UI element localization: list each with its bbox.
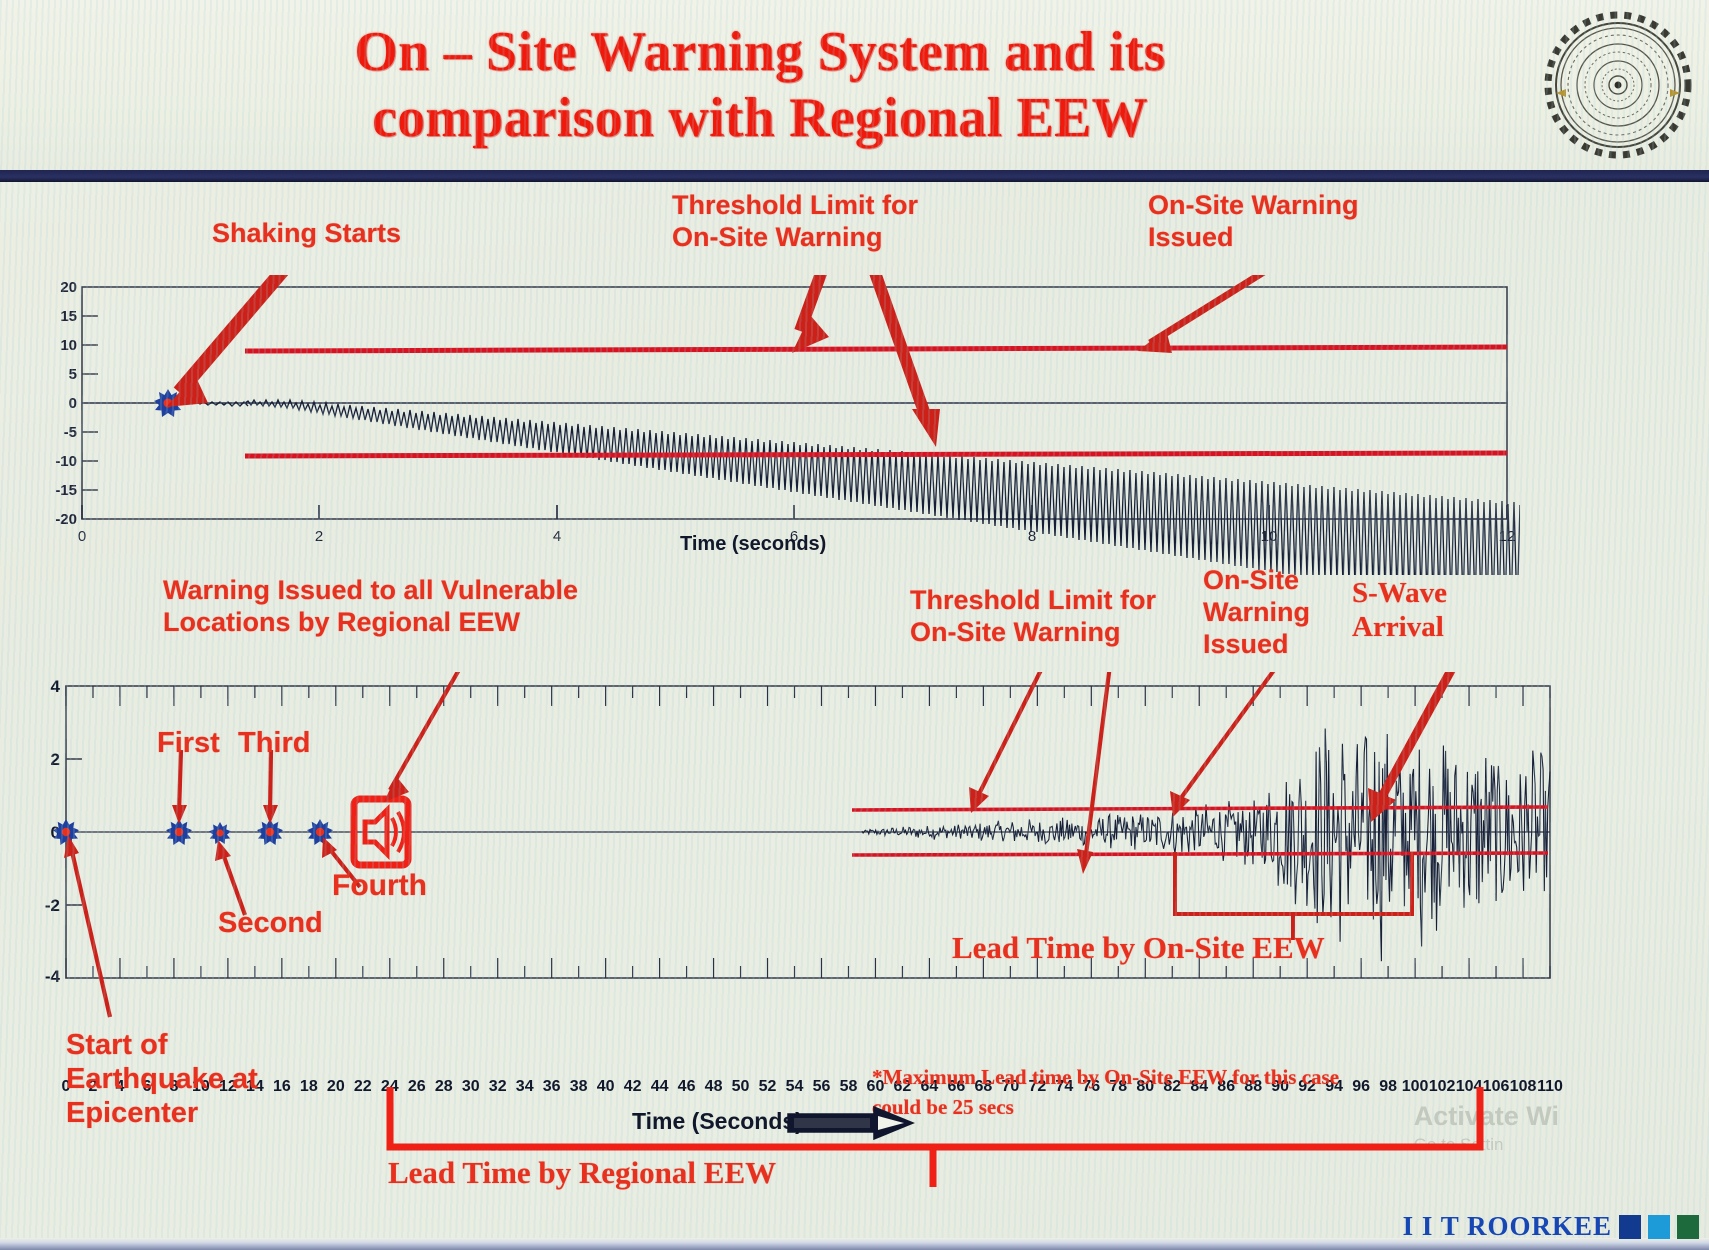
- bracket-lead-time-regional: [360, 1085, 1520, 1225]
- svg-text:20: 20: [60, 279, 77, 296]
- x-tick-label: 20: [327, 1078, 345, 1096]
- arrow-third: [263, 750, 278, 824]
- svg-text:-4: -4: [45, 967, 61, 986]
- annotation-regional-warning: Warning Issued to all Vulnerable Locatio…: [163, 575, 578, 639]
- top-threshold-lower: [245, 453, 1507, 456]
- iit-roorkee-crest-icon: [1543, 4, 1693, 166]
- iit-roorkee-brand-text: I I T ROORKEE: [1403, 1211, 1612, 1242]
- annotation-onsite-warning-issued-bottom: On-Site Warning Issued: [1203, 565, 1310, 661]
- svg-text:2: 2: [51, 750, 60, 769]
- svg-text:4: 4: [553, 528, 561, 545]
- x-tick-label: 110: [1537, 1078, 1563, 1096]
- page-title-line1: On – Site Warning System and its: [354, 20, 1165, 86]
- annotation-s-wave-arrival: S-Wave Arrival: [1352, 576, 1447, 644]
- annotation-threshold-limit-top: Threshold Limit for On-Site Warning: [672, 190, 918, 254]
- arrow-threshold-limit-bottom: [969, 672, 1075, 813]
- top-chart: 20 15 10 5 0 -5 -10 -15 -20: [40, 275, 1520, 575]
- annotation-third: Third: [238, 726, 311, 760]
- page-title: On – Site Warning System and its compari…: [120, 6, 1400, 166]
- annotation-shaking-starts: Shaking Starts: [212, 218, 401, 250]
- svg-text:-15: -15: [55, 482, 77, 499]
- arrow-start-of-earthquake: [64, 835, 110, 1017]
- arrow-threshold-limit-top-2: [860, 275, 940, 447]
- svg-text:-5: -5: [64, 424, 77, 441]
- top-threshold-upper: [245, 347, 1507, 351]
- brand-square-green: [1677, 1215, 1699, 1239]
- arrow-regional-warning: [384, 672, 495, 802]
- header-divider: [0, 170, 1709, 182]
- top-chart-trace: [245, 400, 1520, 575]
- bottom-threshold-upper: [852, 807, 1548, 810]
- svg-text:0: 0: [69, 395, 77, 412]
- svg-text:4: 4: [51, 677, 61, 696]
- svg-text:8: 8: [1028, 528, 1036, 545]
- brand-square-navy: [1619, 1215, 1641, 1239]
- arrow-shaking-starts: [166, 275, 308, 407]
- annotation-second: Second: [218, 906, 323, 940]
- annotation-threshold-limit-bottom: Threshold Limit for On-Site Warning: [910, 585, 1156, 649]
- page-title-line2: comparison with Regional EEW: [372, 86, 1148, 152]
- slide: On – Site Warning System and its compari…: [0, 0, 1709, 1250]
- annotation-onsite-warning-issued-top: On-Site Warning Issued: [1148, 190, 1359, 254]
- iit-roorkee-brand: I I T ROORKEE: [1403, 1211, 1699, 1242]
- annotation-lead-time-onsite: Lead Time by On-Site EEW: [952, 930, 1325, 967]
- svg-text:0: 0: [78, 528, 86, 545]
- svg-text:-20: -20: [55, 511, 77, 528]
- svg-text:-10: -10: [55, 453, 77, 470]
- arrow-onsite-warning-bottom: [1170, 672, 1280, 817]
- bottom-threshold-lower: [852, 853, 1548, 855]
- svg-text:10: 10: [60, 337, 77, 354]
- x-tick-label: 16: [273, 1078, 291, 1096]
- x-tick-label: 18: [300, 1078, 318, 1096]
- svg-text:15: 15: [60, 308, 77, 325]
- svg-text:2: 2: [315, 528, 323, 545]
- svg-text:-2: -2: [45, 896, 60, 915]
- arrow-first: [172, 750, 187, 824]
- arrow-second: [215, 840, 245, 915]
- annotation-first: First: [157, 726, 220, 760]
- brand-square-cyan: [1648, 1215, 1670, 1239]
- slide-header: On – Site Warning System and its compari…: [0, 0, 1709, 172]
- top-chart-xlabel: Time (seconds): [680, 533, 826, 556]
- annotation-start-of-earthquake: Start of Earthquake at Epicenter: [66, 1028, 258, 1131]
- svg-text:5: 5: [69, 366, 77, 383]
- annotation-fourth: Fourth: [332, 868, 427, 903]
